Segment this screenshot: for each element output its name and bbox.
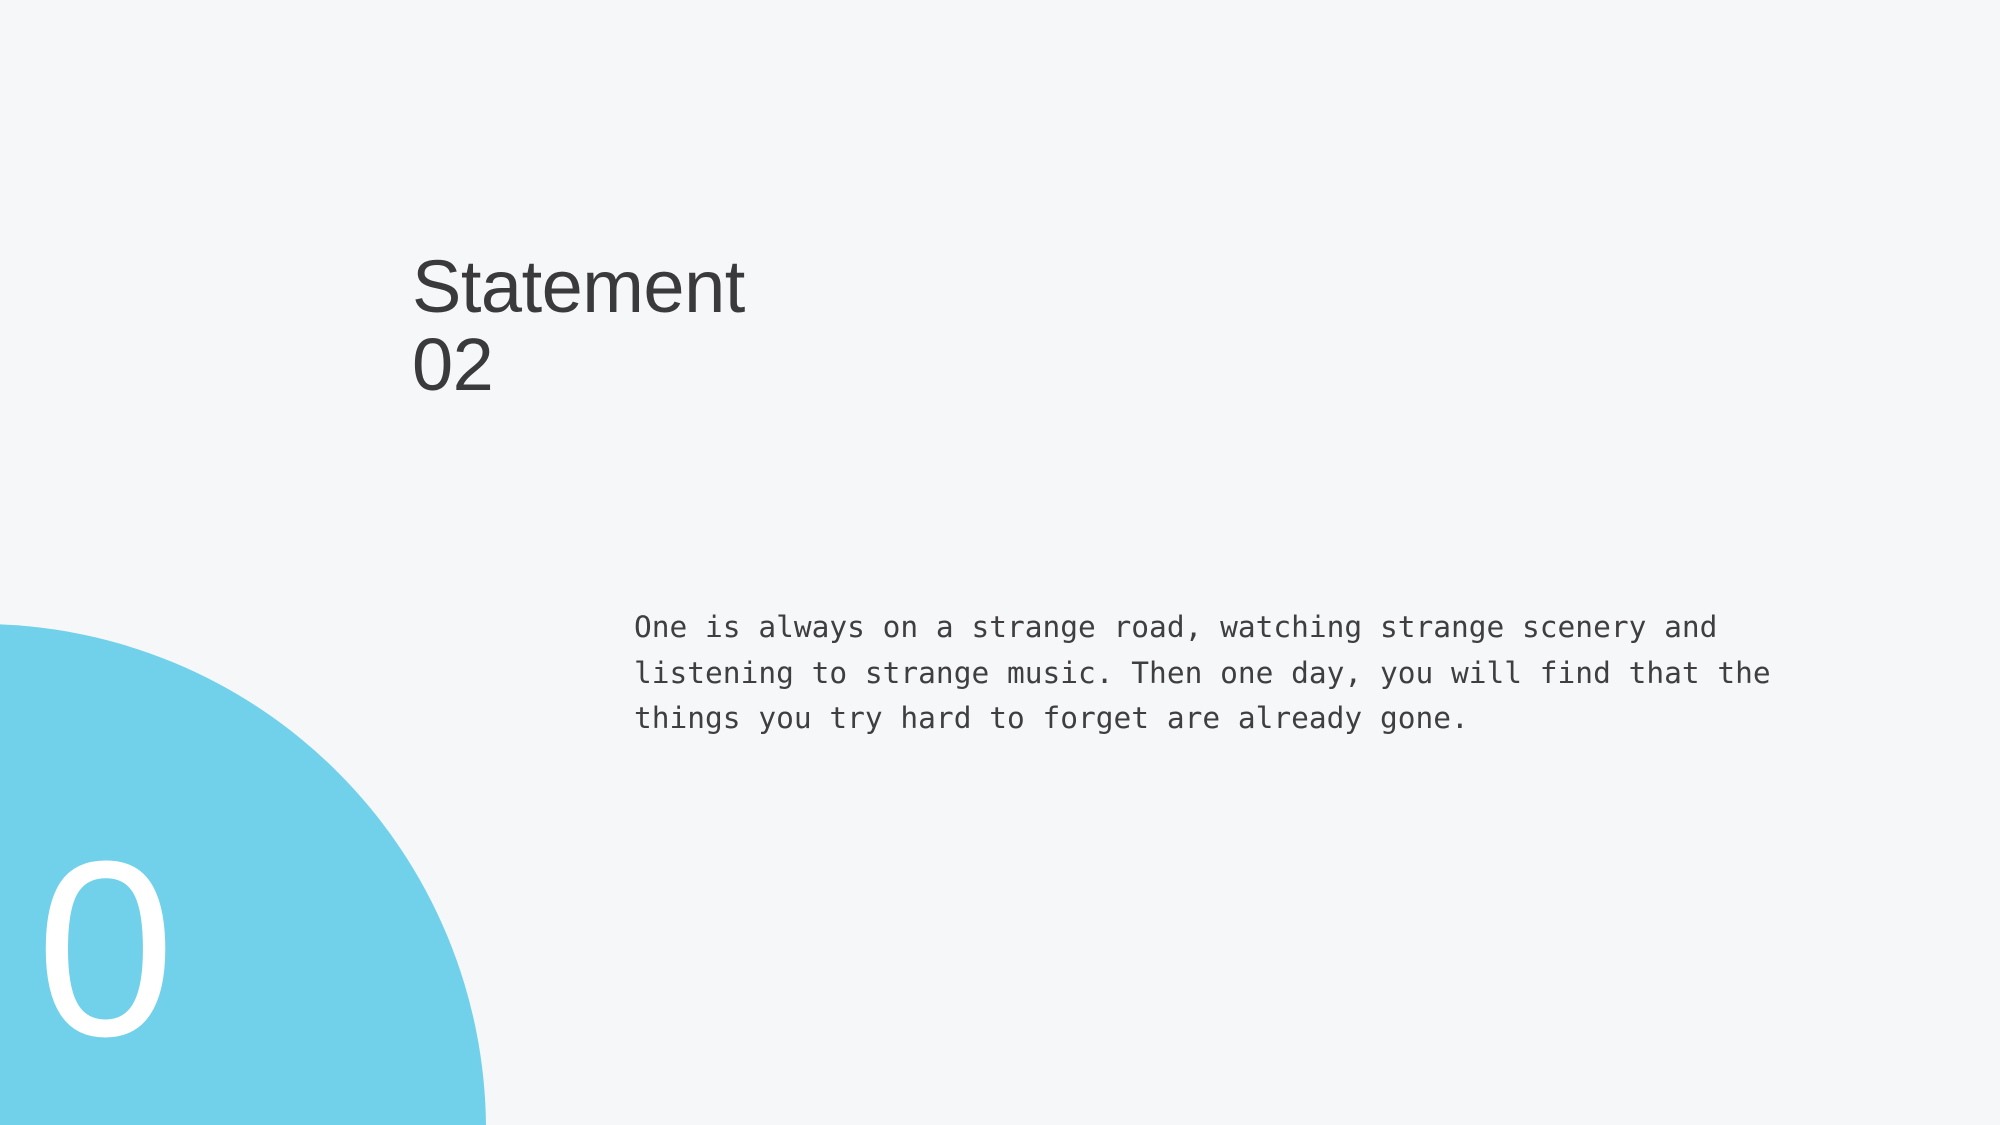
page-title-line-1: Statement [412, 248, 745, 326]
page-title-line-2: 02 [412, 326, 745, 404]
slide-canvas: 0 Statement 02 One is always on a strang… [0, 0, 2000, 1125]
page-title: Statement 02 [412, 248, 745, 405]
accent-number-label: 0 [36, 824, 175, 1074]
statement-body-text: One is always on a strange road, watchin… [634, 605, 1794, 742]
